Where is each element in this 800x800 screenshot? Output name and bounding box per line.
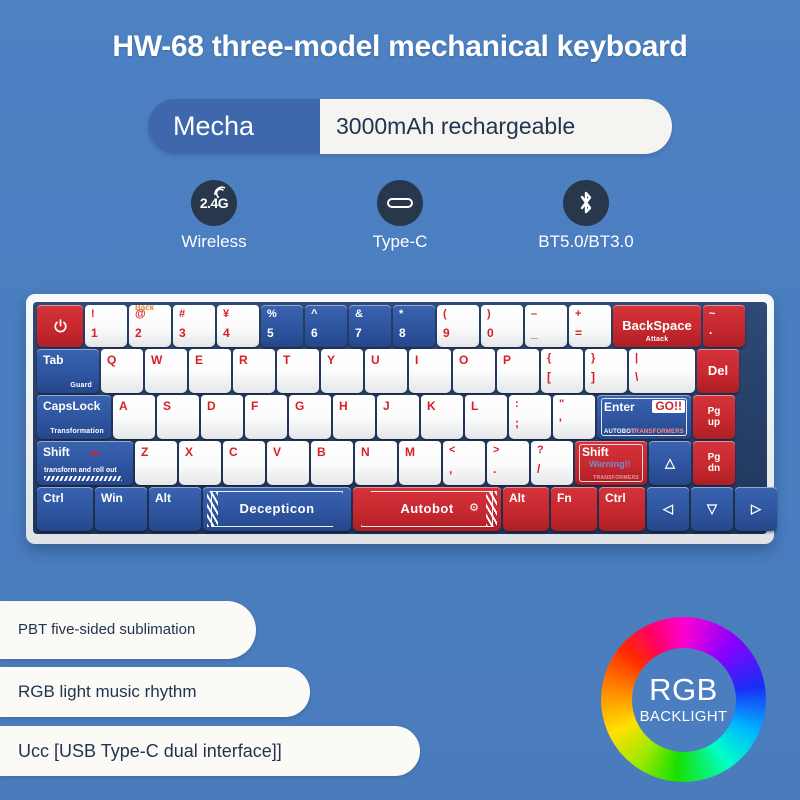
key-legend: ▷: [735, 487, 777, 531]
key-legend: C: [223, 441, 265, 459]
rgb-badge-title: RGB: [649, 674, 718, 705]
key-legend: L: [465, 395, 507, 413]
key-legend: U: [365, 349, 407, 367]
key-legend: G: [289, 395, 331, 413]
key-legend-top: *: [399, 309, 435, 321]
type-c-port-icon: [377, 180, 423, 226]
key-a[interactable]: A: [113, 395, 155, 439]
key-legend: Z: [135, 441, 177, 459]
key-legend: Tab: [37, 349, 99, 367]
key-legend: Shift: [37, 441, 133, 459]
key-legend-bottom: 9: [443, 327, 479, 340]
key-s[interactable]: S: [157, 395, 199, 439]
key-legend-top: ": [559, 399, 595, 411]
key-legend-bottom: ·: [709, 327, 745, 340]
key-e[interactable]: E: [189, 349, 231, 393]
bluetooth-icon: [563, 180, 609, 226]
key-f[interactable]: F: [245, 395, 287, 439]
key-legend: X: [179, 441, 221, 459]
key-legend-top: <: [449, 445, 485, 457]
key-legend: M: [399, 441, 441, 459]
key-legend: A: [113, 395, 155, 413]
key-legend-top: |: [635, 353, 695, 365]
key-3[interactable]: #3: [173, 305, 215, 347]
key-legend-bottom: /: [537, 463, 573, 476]
key-legend-bottom: 0: [487, 327, 523, 340]
key-5[interactable]: %5: [261, 305, 303, 347]
key-legend: Shift: [582, 446, 609, 459]
key-legend: V: [267, 441, 309, 459]
bluetooth-glyph: [576, 189, 596, 217]
key-pg-up[interactable]: Pgup: [693, 395, 735, 439]
key-legend: Enter: [604, 401, 635, 414]
key-0[interactable]: )0: [481, 305, 523, 347]
key-z[interactable]: Z: [135, 441, 177, 485]
key-shift-right[interactable]: ShiftWarning!!TRANSFORMERS: [575, 441, 647, 485]
key-alt-left[interactable]: Alt: [149, 487, 201, 531]
key-legend-bottom: 5: [267, 327, 303, 340]
keyboard-row: CtrlWinAltDecepticonAutobot⚙AltFnCtrl◁▽▷: [37, 487, 763, 531]
key-7[interactable]: &7: [349, 305, 391, 347]
key-b[interactable]: B: [311, 441, 353, 485]
spec-badge-bar: Mecha 3000mAh rechargeable: [148, 99, 672, 154]
key-arrow-down[interactable]: ▽: [691, 487, 733, 531]
key-del[interactable]: Del: [697, 349, 739, 393]
key-sublabel: transform and roll out: [44, 467, 117, 474]
key-x[interactable]: X: [179, 441, 221, 485]
keyboard-row: !1Back@2#3¥4%5^6&7*8(9)0–_+=BackSpaceAtt…: [37, 305, 763, 347]
key-legend: P: [497, 349, 539, 367]
key-v[interactable]: V: [267, 441, 309, 485]
key-legend-top: #: [179, 309, 215, 321]
key-t[interactable]: T: [277, 349, 319, 393]
key-legend: R: [233, 349, 275, 367]
page-title: HW-68 three-model mechanical keyboard: [0, 30, 800, 64]
hazard-stripes: [44, 476, 122, 481]
keyboard-plate: !1Back@2#3¥4%5^6&7*8(9)0–_+=BackSpaceAtt…: [33, 302, 767, 534]
key-legend: Y: [321, 349, 363, 367]
key-j[interactable]: J: [377, 395, 419, 439]
key-9[interactable]: (9: [437, 305, 479, 347]
key-1[interactable]: !1: [85, 305, 127, 347]
badge-battery-label: 3000mAh rechargeable: [298, 99, 672, 154]
key-u[interactable]: U: [365, 349, 407, 393]
key-legend-top: %: [267, 309, 303, 321]
key-c[interactable]: C: [223, 441, 265, 485]
key-r[interactable]: R: [233, 349, 275, 393]
key-legend-top: }: [591, 353, 627, 365]
key-legend-bottom: ;: [515, 417, 551, 430]
key-legend-bottom: .: [493, 463, 529, 476]
key-legend-line1: Pg: [708, 452, 721, 463]
key-semicolon[interactable]: :;: [509, 395, 551, 439]
key-sublabel: Transformation: [50, 428, 104, 435]
wifi-24g-icon: 2.4G: [191, 180, 237, 226]
key-legend: Win: [95, 487, 147, 505]
feature-typec: Type-C: [335, 180, 465, 252]
key-p[interactable]: P: [497, 349, 539, 393]
key-2[interactable]: Back@2: [129, 305, 171, 347]
key-legend-bottom: [: [547, 371, 583, 384]
key-space-decepticon[interactable]: Decepticon: [203, 487, 351, 531]
key-legend: F: [245, 395, 287, 413]
key-legend-bottom: 1: [91, 327, 127, 340]
key-backslash[interactable]: |\: [629, 349, 695, 393]
key-d[interactable]: D: [201, 395, 243, 439]
key-legend: Ctrl: [37, 487, 93, 505]
key-legend: Alt: [149, 487, 201, 505]
type-c-shape: [387, 198, 413, 208]
key-legend: B: [311, 441, 353, 459]
key-legend: Ctrl: [599, 487, 645, 505]
key-equal[interactable]: +=: [569, 305, 611, 347]
key-arrow-right[interactable]: ▷: [735, 487, 777, 531]
key-6[interactable]: ^6: [305, 305, 347, 347]
key-legend: T: [277, 349, 319, 367]
feature-pill-ucc: Ucc [USB Type-C dual interface]]: [0, 726, 420, 776]
key-legend: Fn: [551, 487, 597, 505]
key-legend-bottom: \: [635, 371, 695, 384]
key-legend-bottom: 2: [135, 327, 171, 340]
key-minus[interactable]: –_: [525, 305, 567, 347]
key-w[interactable]: W: [145, 349, 187, 393]
key-alt-right[interactable]: Alt: [503, 487, 549, 531]
shift-arrows-icon: ›››: [89, 446, 99, 460]
key-legend-top: ^: [311, 309, 347, 321]
key-legend-top: ): [487, 309, 523, 321]
key-legend: ▽: [691, 487, 733, 531]
key-bracket-right[interactable]: }]: [585, 349, 627, 393]
key-legend-line2: dn: [708, 463, 720, 474]
key-legend-bottom: 8: [399, 327, 435, 340]
feature-pill-pbt: PBT five-sided sublimation: [0, 601, 256, 659]
key-legend: J: [377, 395, 419, 413]
key-ctrl-left[interactable]: Ctrl: [37, 487, 93, 531]
key-legend-bottom: _: [531, 327, 567, 340]
key-legend-bottom: 3: [179, 327, 215, 340]
key-legend: Decepticon: [211, 491, 343, 527]
key-legend: ◁: [647, 487, 689, 531]
key-space-autobot[interactable]: Autobot⚙: [353, 487, 501, 531]
key-legend: Q: [101, 349, 143, 367]
key-sublabel: Attack: [613, 336, 701, 343]
key-quote[interactable]: "': [553, 395, 595, 439]
key-arrow-left[interactable]: ◁: [647, 487, 689, 531]
key-legend-line2: up: [708, 417, 720, 428]
key-legend-bottom: 4: [223, 327, 259, 340]
key-k[interactable]: K: [421, 395, 463, 439]
key-tab[interactable]: TabGuard: [37, 349, 99, 393]
key-4[interactable]: ¥4: [217, 305, 259, 347]
key-legend: O: [453, 349, 495, 367]
key-legend: K: [421, 395, 463, 413]
key-legend-top: ~: [709, 309, 745, 321]
rgb-badge-subtitle: BACKLIGHT: [640, 708, 728, 725]
rgb-backlight-badge: RGB BACKLIGHT: [601, 617, 766, 782]
key-legend: I: [409, 349, 451, 367]
key-legend-top: >: [493, 445, 529, 457]
key-8[interactable]: *8: [393, 305, 435, 347]
key-legend-top: &: [355, 309, 391, 321]
badge-mecha-label: Mecha: [148, 99, 320, 154]
key-tilde[interactable]: ~·: [703, 305, 745, 347]
autobot-gear-icon: ⚙: [469, 503, 479, 515]
key-legend-bottom: ': [559, 417, 595, 430]
key-y[interactable]: Y: [321, 349, 363, 393]
key-legend-bottom: 7: [355, 327, 391, 340]
key-legend: D: [201, 395, 243, 413]
keyboard-row: TabGuardQWERTYUIOP{[}]|\Del: [37, 349, 763, 393]
key-win[interactable]: Win: [95, 487, 147, 531]
key-sublabel: TRANSFORMERS: [593, 476, 639, 481]
feature-typec-label: Type-C: [335, 232, 465, 252]
key-enter[interactable]: EnterGO!!AUTOBOTTRANSFORMERS: [597, 395, 691, 439]
power-icon: [53, 319, 68, 334]
key-legend-top: !: [91, 309, 127, 321]
key-legend-bottom: 6: [311, 327, 347, 340]
key-legend-bottom: =: [575, 327, 611, 340]
key-arrow-up[interactable]: △: [649, 441, 691, 485]
feature-bluetooth: BT5.0/BT3.0: [521, 180, 651, 252]
key-comma[interactable]: <,: [443, 441, 485, 485]
key-m[interactable]: M: [399, 441, 441, 485]
key-legend-top: :: [515, 399, 551, 411]
key-ctrl-right[interactable]: Ctrl: [599, 487, 645, 531]
key-legend: Alt: [503, 487, 549, 505]
enter-sublabel-right: TRANSFORMERS: [631, 429, 684, 435]
key-legend: N: [355, 441, 397, 459]
key-legend-bottom: ]: [591, 371, 627, 384]
feature-icon-row: 2.4G Wireless Type-C BT5.0/BT3.0: [0, 180, 800, 252]
key-h[interactable]: H: [333, 395, 375, 439]
wifi-arc-icon: [214, 186, 228, 198]
keyboard-row: Shift›››transform and roll outZXCVBNM<,>…: [37, 441, 763, 485]
key-legend-top: (: [443, 309, 479, 321]
feature-bluetooth-label: BT5.0/BT3.0: [521, 232, 651, 252]
key-legend: △: [649, 441, 691, 485]
key-legend-top: +: [575, 309, 611, 321]
key-pg-dn[interactable]: Pgdn: [693, 441, 735, 485]
key-legend: E: [189, 349, 231, 367]
key-i[interactable]: I: [409, 349, 451, 393]
rgb-badge-center: RGB BACKLIGHT: [632, 648, 736, 752]
key-o[interactable]: O: [453, 349, 495, 393]
feature-wireless-label: Wireless: [149, 232, 279, 252]
key-sublabel: Guard: [70, 382, 92, 389]
keyboard-row: CapsLockTransformationASDFGHJKL:;"'Enter…: [37, 395, 763, 439]
key-g[interactable]: G: [289, 395, 331, 439]
key-legend-top: ¥: [223, 309, 259, 321]
key-legend-top: {: [547, 353, 583, 365]
key-legend: Del: [697, 349, 739, 393]
feature-wireless: 2.4G Wireless: [149, 180, 279, 252]
key-legend: S: [157, 395, 199, 413]
key-fn[interactable]: Fn: [551, 487, 597, 531]
key-legend: H: [333, 395, 375, 413]
key-l[interactable]: L: [465, 395, 507, 439]
key-bracket-left[interactable]: {[: [541, 349, 583, 393]
key-legend: W: [145, 349, 187, 367]
key-period[interactable]: >.: [487, 441, 529, 485]
keyboard-case: !1Back@2#3¥4%5^6&7*8(9)0–_+=BackSpaceAtt…: [26, 294, 774, 544]
key-legend: CapsLock: [37, 395, 111, 413]
feature-pill-rgb-music: RGB light music rhythm: [0, 667, 310, 717]
key-legend-top: ?: [537, 445, 573, 457]
key-slash[interactable]: ?/: [531, 441, 573, 485]
hazard-stripes-right: [486, 491, 497, 527]
key-legend-bottom: ,: [449, 463, 485, 476]
key-legend-line1: Pg: [708, 406, 721, 417]
key-power[interactable]: [37, 305, 83, 347]
go-badge: GO!!: [652, 400, 685, 413]
key-legend-top: –: [531, 309, 567, 321]
key-q[interactable]: Q: [101, 349, 143, 393]
key-shift-left[interactable]: Shift›››transform and roll out: [37, 441, 133, 485]
warning-label: Warning!!: [589, 460, 631, 469]
key-capslock[interactable]: CapsLockTransformation: [37, 395, 111, 439]
key-backspace[interactable]: BackSpaceAttack: [613, 305, 701, 347]
key-n[interactable]: N: [355, 441, 397, 485]
